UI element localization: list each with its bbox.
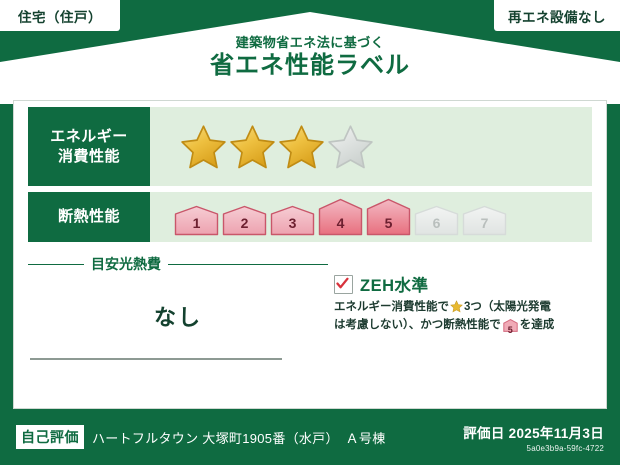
lower-section: 目安光熱費 なし ZEH水準 エネルギー消費性能で3つ（太陽光発電は考慮しな	[28, 248, 592, 339]
insulation-level-number: 5	[366, 215, 411, 231]
star-icon-filled	[229, 124, 276, 169]
star-rating	[180, 124, 374, 169]
zeh-desc-part3: を達成	[520, 319, 555, 331]
tab-dwelling-type-label: 住宅（住戸）	[18, 6, 102, 26]
insulation-level-6: 6	[414, 205, 459, 236]
evaluation-date: 評価日 2025年11月3日	[463, 426, 604, 441]
property-name: ハートフルタウン 大塚町1905番（水戸） Ａ号棟	[92, 428, 386, 447]
insulation-level-number: 1	[174, 215, 219, 231]
zeh-description: エネルギー消費性能で3つ（太陽光発電は考慮しない）、かつ断熱性能で5を達成	[334, 299, 592, 339]
star-icon	[450, 300, 463, 313]
energy-label-line2: 消費性能	[50, 147, 128, 167]
insulation-level-3: 3	[270, 205, 315, 236]
insulation-badge-inline-number: 5	[503, 324, 518, 338]
zeh-column: ZEH水準 エネルギー消費性能で3つ（太陽光発電は考慮しない）、かつ断熱性能で5…	[328, 248, 592, 339]
insulation-level-number: 6	[414, 215, 459, 231]
utility-cost-heading: 目安光熱費	[28, 254, 328, 274]
insulation-level-number: 3	[270, 215, 315, 231]
insulation-level-2: 2	[222, 205, 267, 236]
utility-cost-heading-label: 目安光熱費	[91, 254, 161, 274]
tab-renewable-status-label: 再エネ設備なし	[508, 6, 606, 26]
insulation-label: 断熱性能	[58, 207, 120, 227]
tab-dwelling-type: 住宅（住戸）	[0, 0, 120, 31]
insulation-badge-inline: 5	[503, 319, 518, 339]
insulation-level-4: 4	[318, 198, 363, 236]
zeh-desc-star-count: 3つ（太陽光発電	[464, 301, 551, 313]
insulation-performance-row: 断熱性能 1234567	[28, 192, 592, 242]
evaluation-id: 5a0e3b9a-59fc-4722	[463, 444, 604, 453]
insulation-level-number: 2	[222, 215, 267, 231]
zeh-desc-part2: は考慮しない）、かつ断熱性能で	[334, 319, 501, 331]
zeh-title: ZEH水準	[360, 272, 429, 296]
self-evaluation-badge: 自己評価	[16, 425, 84, 449]
insulation-level-5: 5	[366, 198, 411, 236]
heading-rule-right	[168, 264, 328, 265]
energy-performance-label: 住宅（住戸） 再エネ設備なし 建築物省エネ法に基づく 省エネ性能ラベル エネルギ…	[0, 0, 620, 465]
energy-performance-row: エネルギー 消費性能	[28, 107, 592, 186]
zeh-desc-part1: エネルギー消費性能で	[334, 301, 449, 313]
insulation-level-number: 7	[462, 215, 507, 231]
zeh-checkbox[interactable]	[334, 275, 353, 294]
check-icon	[336, 277, 349, 290]
insulation-level-number: 4	[318, 215, 363, 231]
tab-renewable-status: 再エネ設備なし	[494, 0, 620, 31]
insulation-level-7: 7	[462, 205, 507, 236]
star-icon-empty	[327, 124, 374, 169]
star-icon-filled	[278, 124, 325, 169]
utility-cost-value: なし	[28, 300, 328, 332]
utility-cost-underline	[30, 358, 282, 360]
zeh-heading: ZEH水準	[334, 272, 592, 296]
heading-rule-left	[28, 264, 84, 265]
label-body-card: エネルギー 消費性能 断熱性能 1234567 目安光熱費	[13, 100, 607, 409]
utility-cost-column: 目安光熱費 なし	[28, 248, 328, 339]
label-title: 建築物省エネ法に基づく 省エネ性能ラベル	[0, 36, 620, 81]
energy-label-line1: エネルギー	[50, 127, 128, 147]
label-title-sub: 建築物省エネ法に基づく	[0, 36, 620, 50]
star-icon-filled	[180, 124, 227, 169]
insulation-performance-value: 1234567	[150, 192, 592, 242]
insulation-level-1: 1	[174, 205, 219, 236]
insulation-performance-label-block: 断熱性能	[28, 192, 150, 242]
footer-right-block: 評価日 2025年11月3日 5a0e3b9a-59fc-4722	[463, 422, 604, 453]
insulation-level-scale: 1234567	[174, 198, 507, 236]
label-footer: 自己評価 ハートフルタウン 大塚町1905番（水戸） Ａ号棟 評価日 2025年…	[0, 409, 620, 465]
energy-performance-label-block: エネルギー 消費性能	[28, 107, 150, 186]
label-title-main: 省エネ性能ラベル	[0, 51, 620, 81]
energy-performance-value	[150, 107, 592, 186]
